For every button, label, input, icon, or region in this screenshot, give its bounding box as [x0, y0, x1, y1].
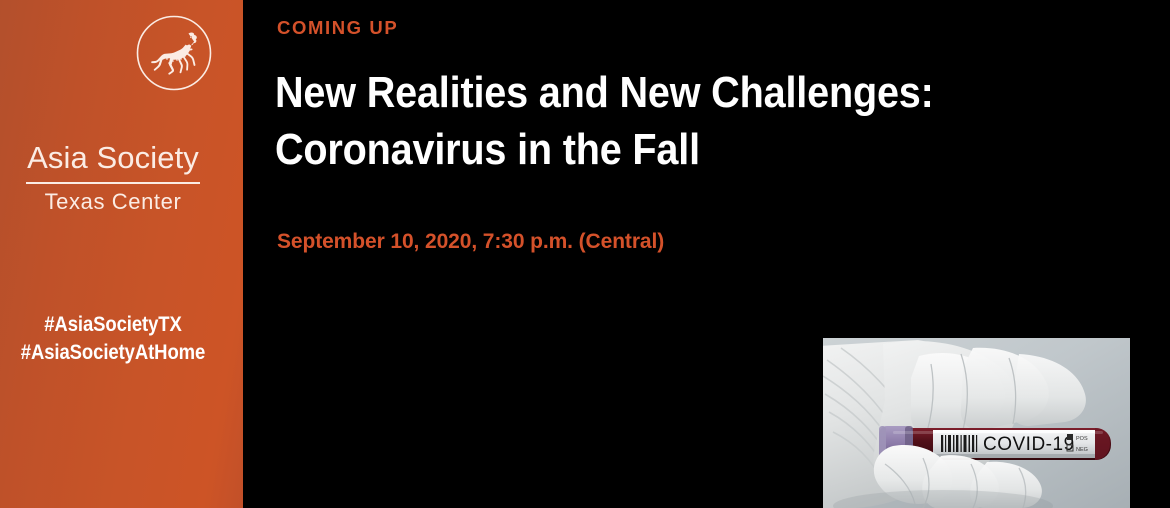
event-title-line-2: Coronavirus in the Fall — [275, 121, 995, 178]
hashtag-group: #AsiaSocietyTX #AsiaSocietyAtHome — [0, 310, 226, 366]
hashtag-secondary: #AsiaSocietyAtHome — [16, 338, 210, 366]
brand-panel: Asia Society Texas Center #AsiaSocietyTX… — [0, 0, 243, 508]
covid-test-tube-photo: COVID-19 POS NEG — [823, 338, 1130, 508]
event-promo-slide: Asia Society Texas Center #AsiaSocietyTX… — [0, 0, 1170, 508]
hashtag-primary: #AsiaSocietyTX — [16, 310, 210, 338]
brand-divider-rule — [26, 182, 200, 184]
svg-text:POS: POS — [1076, 436, 1088, 442]
brand-wordmark: Asia Society Texas Center — [0, 140, 226, 215]
svg-text:COVID-19: COVID-19 — [983, 434, 1075, 455]
kicker-label: COMING UP — [277, 17, 398, 39]
asia-society-lion-circle-logo-icon — [133, 12, 215, 94]
event-title-line-1: New Realities and New Challenges: — [275, 64, 995, 121]
brand-name-secondary: Texas Center — [0, 189, 226, 215]
event-datetime: September 10, 2020, 7:30 p.m. (Central) — [277, 230, 664, 254]
event-title: New Realities and New Challenges: Corona… — [275, 64, 995, 178]
brand-name-primary: Asia Society — [0, 140, 226, 176]
svg-text:NEG: NEG — [1076, 447, 1088, 453]
